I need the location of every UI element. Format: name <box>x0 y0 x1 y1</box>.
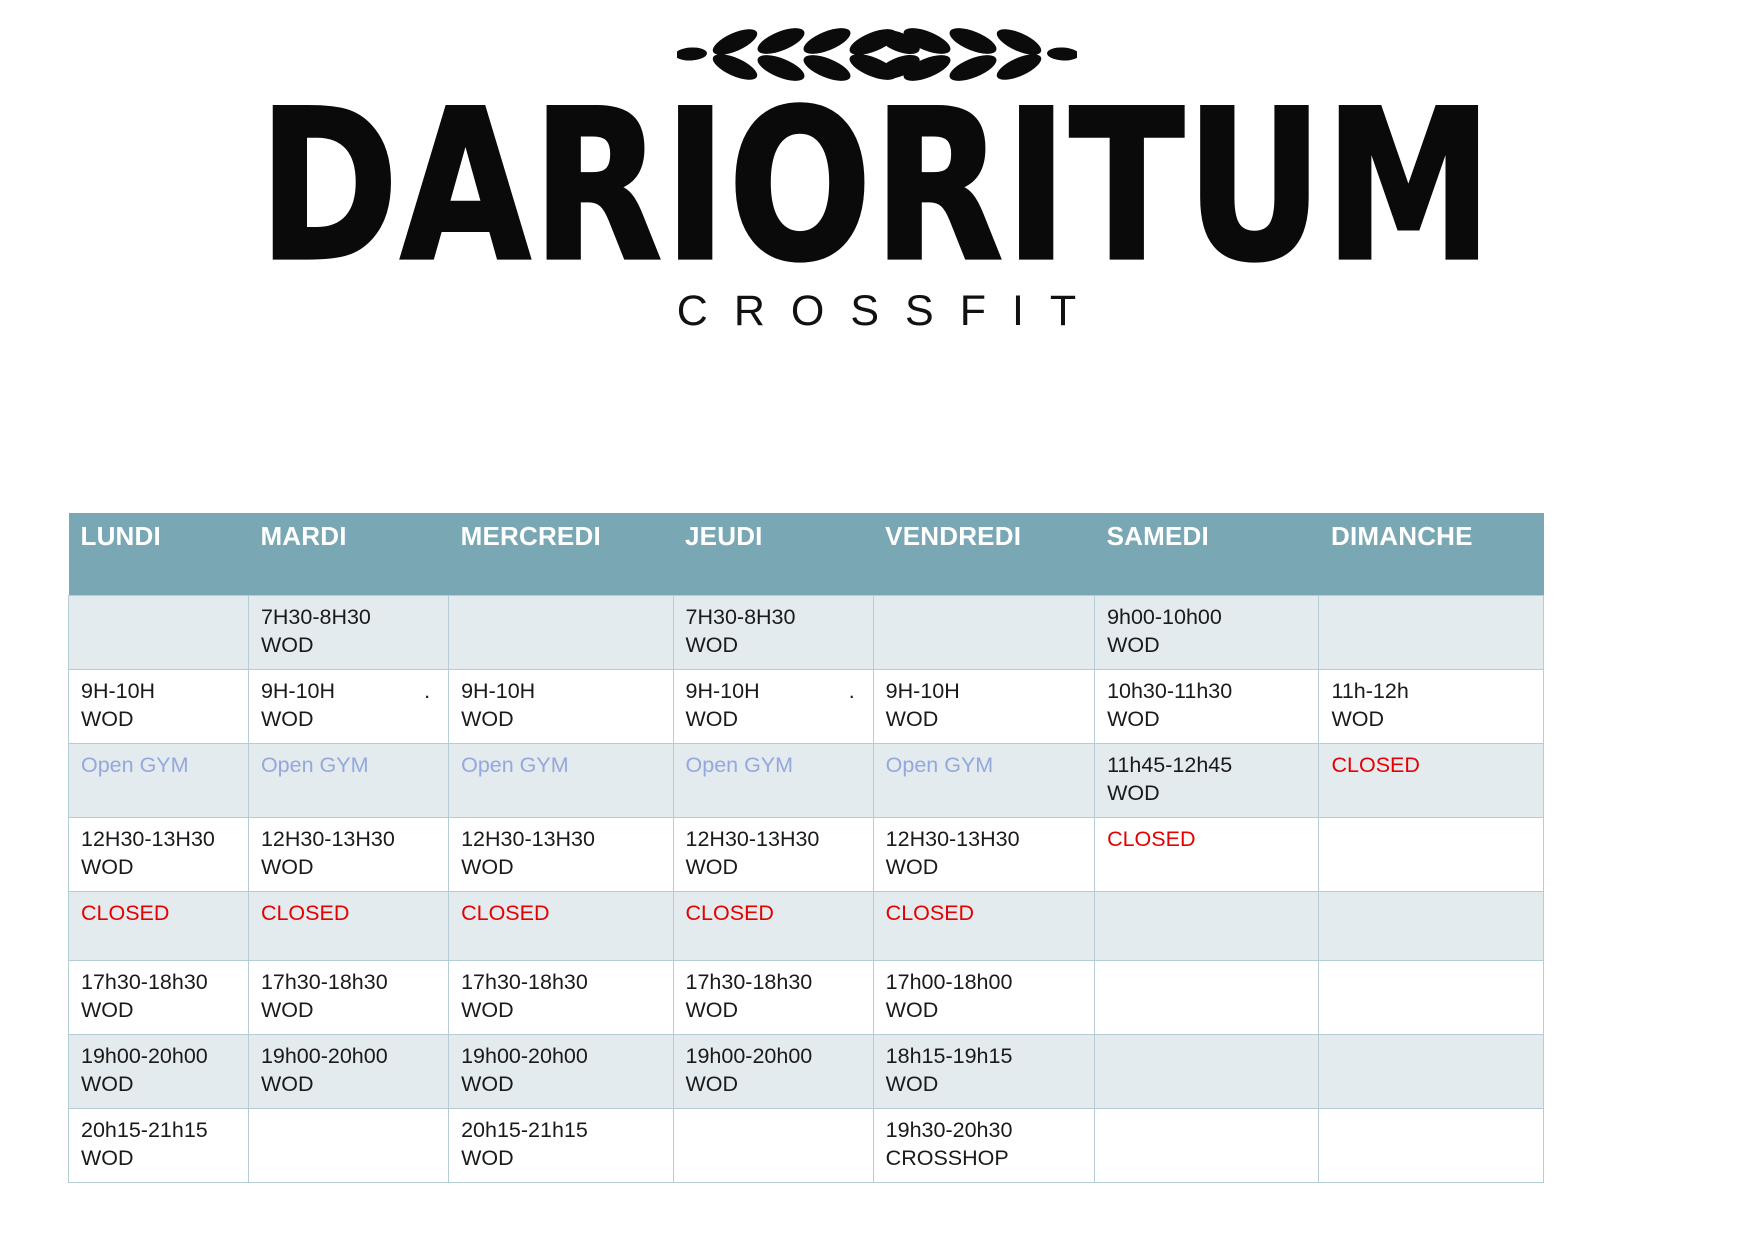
schedule-cell: .9H-10HWOD <box>248 670 448 744</box>
schedule-cell: CLOSED <box>248 892 448 961</box>
schedule-cell: 7H30-8H30WOD <box>248 596 448 670</box>
schedule-cell: 19h30-20h30CROSSHOP <box>873 1109 1094 1183</box>
schedule-cell: 11h45-12h45WOD <box>1095 744 1319 818</box>
schedule-row: Open GYMOpen GYMOpen GYMOpen GYMOpen GYM… <box>69 744 1544 818</box>
schedule-cell: 20h15-21h15WOD <box>449 1109 673 1183</box>
cell-activity: WOD <box>686 632 861 660</box>
cell-time: Open GYM <box>261 752 436 780</box>
cell-time: 11h-12h <box>1331 678 1531 706</box>
schedule-table: LUNDI MARDI MERCREDI JEUDI VENDREDI SAME… <box>68 513 1544 1183</box>
cell-activity: WOD <box>1107 780 1306 808</box>
cell-time: 19h00-20h00 <box>261 1043 436 1071</box>
cell-time: 17h30-18h30 <box>261 969 436 997</box>
schedule-cell <box>1319 961 1544 1035</box>
cell-time: 17h00-18h00 <box>886 969 1082 997</box>
cell-activity: WOD <box>1331 706 1531 734</box>
schedule-cell: 19h00-20h00WOD <box>69 1035 249 1109</box>
brand-logo: DARIORITUM CROSSFIT <box>0 0 1753 336</box>
cell-time: 17h30-18h30 <box>81 969 236 997</box>
cell-activity: WOD <box>686 854 861 882</box>
cell-time: 12H30-13H30 <box>261 826 436 854</box>
schedule-cell: 17h30-18h30WOD <box>673 961 873 1035</box>
cell-time: 19h00-20h00 <box>686 1043 861 1071</box>
cell-time: CLOSED <box>686 900 861 928</box>
schedule-cell: Open GYM <box>69 744 249 818</box>
schedule-cell: 12H30-13H30WOD <box>449 818 673 892</box>
cell-activity: WOD <box>81 854 236 882</box>
cell-activity: WOD <box>261 1071 436 1099</box>
schedule-cell: Open GYM <box>248 744 448 818</box>
column-header-lundi: LUNDI <box>69 513 249 596</box>
schedule-cell: 12H30-13H30WOD <box>873 818 1094 892</box>
schedule-cell: 9H-10HWOD <box>873 670 1094 744</box>
cell-activity: WOD <box>886 706 1082 734</box>
schedule-cell: CLOSED <box>449 892 673 961</box>
cell-activity: WOD <box>461 1071 660 1099</box>
cell-time: CLOSED <box>261 900 436 928</box>
cell-time: 12H30-13H30 <box>461 826 660 854</box>
schedule-cell: 19h00-20h00WOD <box>673 1035 873 1109</box>
cell-time: 7H30-8H30 <box>261 604 436 632</box>
cell-time: Open GYM <box>886 752 1082 780</box>
schedule-cell: 9H-10HWOD <box>449 670 673 744</box>
schedule-row: 19h00-20h00WOD19h00-20h00WOD19h00-20h00W… <box>69 1035 1544 1109</box>
schedule-cell: CLOSED <box>1095 818 1319 892</box>
schedule-row: 7H30-8H30WOD7H30-8H30WOD9h00-10h00WOD <box>69 596 1544 670</box>
schedule-header-row: LUNDI MARDI MERCREDI JEUDI VENDREDI SAME… <box>69 513 1544 596</box>
schedule-cell: 17h00-18h00WOD <box>873 961 1094 1035</box>
schedule-cell: 19h00-20h00WOD <box>248 1035 448 1109</box>
cell-time: CLOSED <box>1331 752 1531 780</box>
cell-time: CLOSED <box>461 900 660 928</box>
schedule-cell: CLOSED <box>873 892 1094 961</box>
schedule-row: 17h30-18h30WOD17h30-18h30WOD17h30-18h30W… <box>69 961 1544 1035</box>
schedule-cell: CLOSED <box>69 892 249 961</box>
cell-activity: WOD <box>261 706 436 734</box>
schedule-cell: 18h15-19h15WOD <box>873 1035 1094 1109</box>
schedule-row: 9H-10HWOD.9H-10HWOD9H-10HWOD.9H-10HWOD9H… <box>69 670 1544 744</box>
cell-time: CLOSED <box>886 900 1082 928</box>
cell-time: 19h00-20h00 <box>461 1043 660 1071</box>
cell-activity: WOD <box>461 997 660 1025</box>
cell-time: 9H-10H <box>686 678 861 706</box>
schedule-cell <box>69 596 249 670</box>
cell-time: 17h30-18h30 <box>686 969 861 997</box>
cell-time: 18h15-19h15 <box>886 1043 1082 1071</box>
schedule-cell <box>673 1109 873 1183</box>
cell-time: 9H-10H <box>461 678 660 706</box>
schedule-cell <box>1319 1035 1544 1109</box>
schedule-cell: Open GYM <box>449 744 673 818</box>
cell-activity: WOD <box>886 854 1082 882</box>
schedule-cell: 9h00-10h00WOD <box>1095 596 1319 670</box>
cell-trailing-mark: . <box>849 678 855 706</box>
schedule-cell <box>1319 892 1544 961</box>
column-header-samedi: SAMEDI <box>1095 513 1319 596</box>
column-header-mardi: MARDI <box>248 513 448 596</box>
cell-activity: WOD <box>886 1071 1082 1099</box>
cell-time: CLOSED <box>81 900 236 928</box>
cell-time: 17h30-18h30 <box>461 969 660 997</box>
schedule-cell: Open GYM <box>873 744 1094 818</box>
schedule-cell: 20h15-21h15WOD <box>69 1109 249 1183</box>
cell-activity: WOD <box>81 706 236 734</box>
schedule-cell: CLOSED <box>673 892 873 961</box>
cell-time: 19h00-20h00 <box>81 1043 236 1071</box>
cell-time: Open GYM <box>461 752 660 780</box>
cell-time: 12H30-13H30 <box>81 826 236 854</box>
cell-activity: WOD <box>686 706 861 734</box>
cell-activity: WOD <box>886 997 1082 1025</box>
schedule-cell: 12H30-13H30WOD <box>69 818 249 892</box>
schedule-cell: 7H30-8H30WOD <box>673 596 873 670</box>
schedule-cell: CLOSED <box>1319 744 1544 818</box>
cell-activity: WOD <box>81 1145 236 1173</box>
column-header-vendredi: VENDREDI <box>873 513 1094 596</box>
cell-activity: WOD <box>461 706 660 734</box>
cell-time: CLOSED <box>1107 826 1306 854</box>
cell-time: Open GYM <box>81 752 236 780</box>
schedule-row: 20h15-21h15WOD20h15-21h15WOD19h30-20h30C… <box>69 1109 1544 1183</box>
schedule-cell <box>248 1109 448 1183</box>
cell-activity: WOD <box>1107 706 1306 734</box>
schedule-cell: Open GYM <box>673 744 873 818</box>
weekly-schedule: LUNDI MARDI MERCREDI JEUDI VENDREDI SAME… <box>68 513 1544 1183</box>
cell-time: 9H-10H <box>886 678 1082 706</box>
cell-time: 11h45-12h45 <box>1107 752 1306 780</box>
schedule-cell: 17h30-18h30WOD <box>248 961 448 1035</box>
schedule-cell: 17h30-18h30WOD <box>449 961 673 1035</box>
cell-time: 12H30-13H30 <box>886 826 1082 854</box>
cell-activity: WOD <box>461 1145 660 1173</box>
schedule-cell: 12H30-13H30WOD <box>248 818 448 892</box>
brand-name: DARIORITUM <box>259 98 1494 277</box>
schedule-body: 7H30-8H30WOD7H30-8H30WOD9h00-10h00WOD9H-… <box>69 596 1544 1183</box>
cell-time: Open GYM <box>686 752 861 780</box>
schedule-cell: 19h00-20h00WOD <box>449 1035 673 1109</box>
schedule-cell <box>1319 818 1544 892</box>
schedule-cell <box>1095 1035 1319 1109</box>
cell-activity: WOD <box>1107 632 1306 660</box>
schedule-cell <box>1319 1109 1544 1183</box>
cell-time: 12H30-13H30 <box>686 826 861 854</box>
schedule-cell: 9H-10HWOD <box>69 670 249 744</box>
schedule-row: 12H30-13H30WOD12H30-13H30WOD12H30-13H30W… <box>69 818 1544 892</box>
cell-activity: WOD <box>686 997 861 1025</box>
cell-time: 7H30-8H30 <box>686 604 861 632</box>
cell-activity: WOD <box>81 997 236 1025</box>
cell-time: 9h00-10h00 <box>1107 604 1306 632</box>
cell-activity: WOD <box>686 1071 861 1099</box>
cell-time: 10h30-11h30 <box>1107 678 1306 706</box>
schedule-cell <box>1095 892 1319 961</box>
schedule-cell <box>873 596 1094 670</box>
cell-time: 20h15-21h15 <box>461 1117 660 1145</box>
cell-activity: WOD <box>461 854 660 882</box>
cell-time: 19h30-20h30 <box>886 1117 1082 1145</box>
schedule-cell: 17h30-18h30WOD <box>69 961 249 1035</box>
cell-activity: WOD <box>81 1071 236 1099</box>
cell-activity: WOD <box>261 854 436 882</box>
schedule-cell: 12H30-13H30WOD <box>673 818 873 892</box>
column-header-mercredi: MERCREDI <box>449 513 673 596</box>
cell-activity: CROSSHOP <box>886 1145 1082 1173</box>
schedule-cell: 11h-12hWOD <box>1319 670 1544 744</box>
schedule-cell: .9H-10HWOD <box>673 670 873 744</box>
schedule-cell <box>1095 961 1319 1035</box>
schedule-cell <box>1319 596 1544 670</box>
schedule-row: CLOSEDCLOSEDCLOSEDCLOSEDCLOSED <box>69 892 1544 961</box>
cell-time: 20h15-21h15 <box>81 1117 236 1145</box>
cell-time: 9H-10H <box>81 678 236 706</box>
column-header-jeudi: JEUDI <box>673 513 873 596</box>
schedule-cell <box>449 596 673 670</box>
schedule-cell: 10h30-11h30WOD <box>1095 670 1319 744</box>
column-header-dimanche: DIMANCHE <box>1319 513 1544 596</box>
cell-trailing-mark: . <box>424 678 430 706</box>
cell-activity: WOD <box>261 997 436 1025</box>
cell-activity: WOD <box>261 632 436 660</box>
schedule-cell <box>1095 1109 1319 1183</box>
cell-time: 9H-10H <box>261 678 436 706</box>
